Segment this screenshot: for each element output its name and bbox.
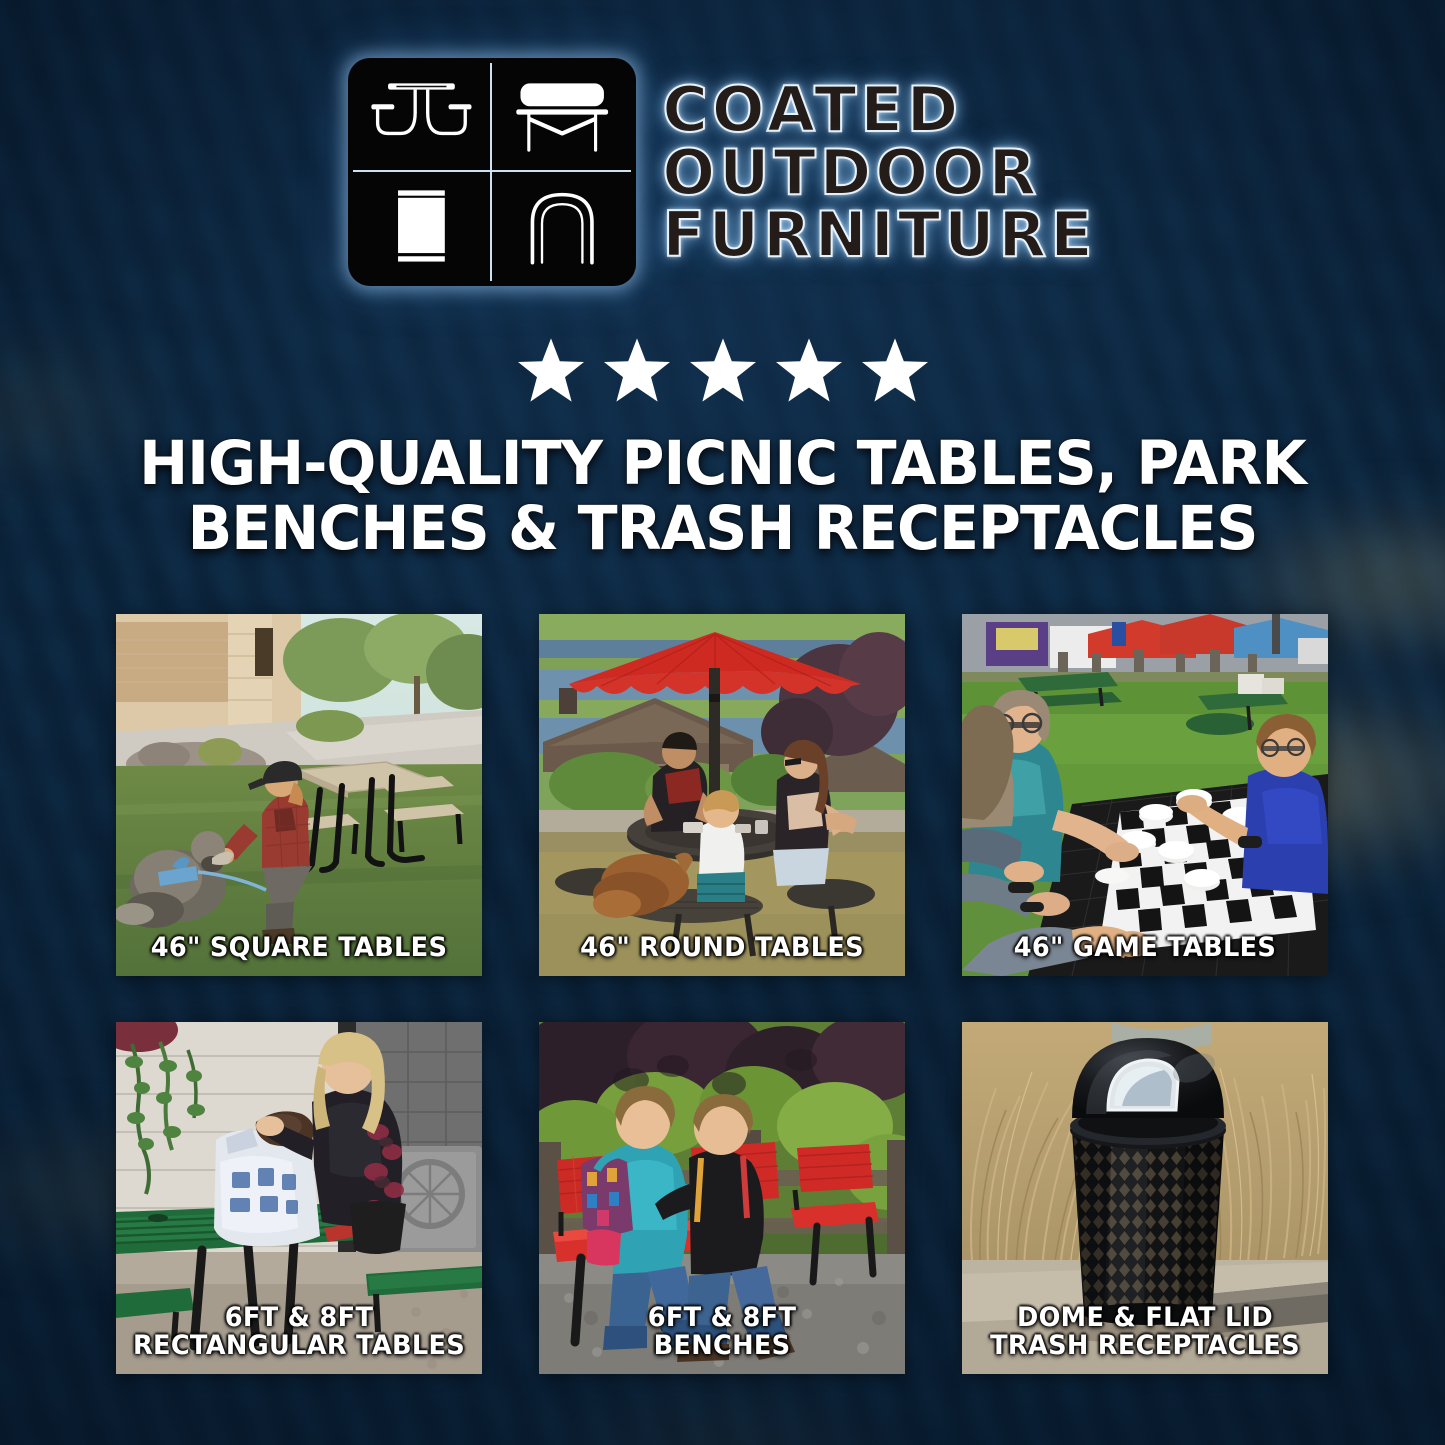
star-icon: [604, 338, 670, 402]
caption-line-1: DOME & FLAT LID: [977, 1304, 1313, 1332]
product-caption: 6FT & 8FT RECTANGULAR TABLES: [131, 1304, 467, 1360]
product-caption: 46" GAME TABLES: [977, 934, 1313, 962]
product-caption: 6FT & 8FT BENCHES: [554, 1304, 890, 1360]
star-icon: [690, 338, 756, 402]
caption-line-1: 46" ROUND TABLES: [554, 934, 890, 962]
caption-line-1: 6FT & 8FT: [131, 1304, 467, 1332]
bench-side-icon: [492, 63, 631, 172]
caption-line-1: 6FT & 8FT: [554, 1304, 890, 1332]
star-icon: [518, 338, 584, 402]
product-tile-rectangular-tables[interactable]: 6FT & 8FT RECTANGULAR TABLES: [116, 1022, 482, 1374]
caption-line-1: 46" GAME TABLES: [977, 934, 1313, 962]
product-caption: 46" ROUND TABLES: [554, 934, 890, 962]
brand-line-1: COATED: [662, 80, 1096, 141]
product-tile-square-tables[interactable]: 46" SQUARE TABLES: [116, 614, 482, 976]
caption-line-2: RECTANGULAR TABLES: [131, 1332, 467, 1360]
caption-line-2: BENCHES: [554, 1332, 890, 1360]
product-caption: 46" SQUARE TABLES: [131, 934, 467, 962]
brand-header: COATED OUTDOOR FURNITURE: [0, 58, 1445, 286]
caption-line-2: TRASH RECEPTACLES: [977, 1332, 1313, 1360]
caption-line-1: 46" SQUARE TABLES: [131, 934, 467, 962]
picnic-table-frame-icon: [353, 63, 492, 172]
trash-receptacle-icon: [353, 172, 492, 281]
brand-wordmark: COATED OUTDOOR FURNITURE: [662, 78, 1096, 266]
product-caption: DOME & FLAT LID TRASH RECEPTACLES: [977, 1304, 1313, 1360]
product-tile-round-tables[interactable]: 46" ROUND TABLES: [539, 614, 905, 976]
headline-line-1: HIGH-QUALITY PICNIC TABLES, PARK: [87, 432, 1359, 497]
product-tile-benches[interactable]: 6FT & 8FT BENCHES: [539, 1022, 905, 1374]
product-tile-game-tables[interactable]: 46" GAME TABLES: [962, 614, 1328, 976]
headline-line-2: BENCHES & TRASH RECEPTACLES: [87, 497, 1359, 562]
star-icon: [776, 338, 842, 402]
product-photo-round-tables: [539, 614, 905, 976]
product-tile-trash-receptacles[interactable]: DOME & FLAT LID TRASH RECEPTACLES: [962, 1022, 1328, 1374]
company-logo[interactable]: [348, 58, 636, 286]
arch-bike-rack-icon: [492, 172, 631, 281]
brand-line-3: FURNITURE: [662, 205, 1096, 266]
star-rating: [0, 338, 1445, 402]
star-icon: [862, 338, 928, 402]
product-photo-square-tables: [116, 614, 482, 976]
page-title: HIGH-QUALITY PICNIC TABLES, PARK BENCHES…: [87, 432, 1359, 561]
brand-line-2: OUTDOOR: [662, 143, 1096, 204]
product-photo-game-tables: [962, 614, 1328, 976]
product-grid: 46" SQUARE TABLES: [116, 614, 1330, 1374]
